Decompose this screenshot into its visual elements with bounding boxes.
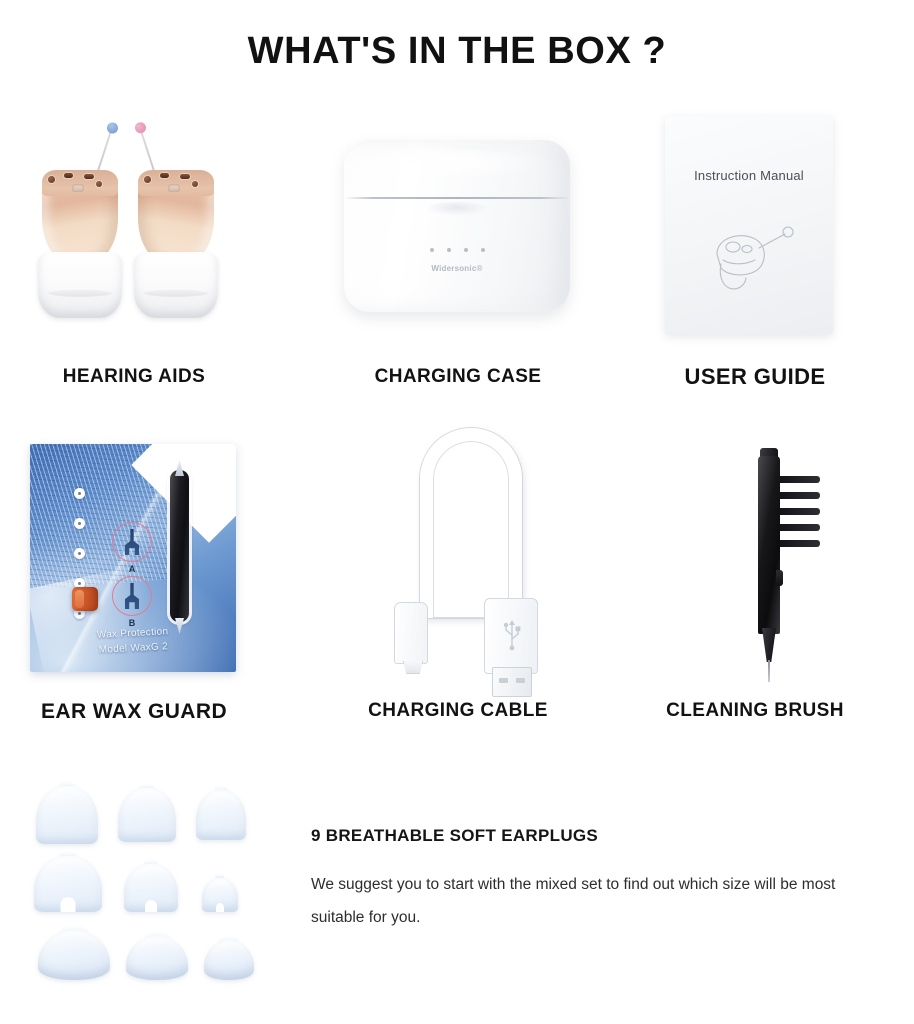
silicone-dome bbox=[38, 252, 122, 318]
hearing-aid-right: SR01 0024D414 bbox=[130, 134, 222, 324]
wax-step-a-label: A bbox=[125, 564, 139, 574]
case-lid-highlight bbox=[370, 150, 542, 180]
caption-user-guide: USER GUIDE bbox=[655, 364, 855, 390]
earplug-mushroom-large bbox=[38, 930, 110, 980]
wax-filter-icon bbox=[74, 518, 85, 529]
brush-bristle-icon bbox=[780, 476, 820, 483]
brush-bristle-icon bbox=[780, 524, 820, 531]
caption-charging-cable: CHARGING CABLE bbox=[358, 700, 558, 722]
product-hearing-aids: SR01 0024D414 SR01 0024D414 bbox=[22, 112, 248, 340]
microphone-port-icon bbox=[96, 181, 102, 187]
product-charging-cable bbox=[372, 420, 572, 678]
caption-charging-case: CHARGING CASE bbox=[358, 366, 558, 388]
caption-ear-wax-guard: EAR WAX GUARD bbox=[34, 700, 234, 724]
brush-bristle-icon bbox=[780, 492, 820, 499]
hearing-aid-faceplate bbox=[42, 170, 118, 196]
earplug-body bbox=[36, 786, 98, 844]
brush-bristle-icon bbox=[780, 540, 820, 547]
case-front-dimple bbox=[426, 202, 488, 216]
led-dot-icon bbox=[481, 248, 485, 252]
caption-cleaning-brush: CLEANING BRUSH bbox=[655, 700, 855, 722]
earplug-body bbox=[204, 940, 254, 980]
whats-in-the-box-infographic: WHAT'S IN THE BOX ? SR01 0024D414 bbox=[0, 0, 914, 1024]
microphone-port-icon bbox=[144, 176, 151, 183]
earplugs-heading: 9 BREATHABLE SOFT EARPLUGS bbox=[311, 826, 871, 846]
wax-guard-cartridge-icon bbox=[72, 587, 98, 611]
earplug-body bbox=[126, 936, 188, 980]
earplug-bell-medium bbox=[118, 788, 176, 842]
product-cleaning-brush bbox=[684, 440, 864, 678]
earplug-vent bbox=[61, 897, 76, 912]
charging-case-shell: Widersonic® bbox=[344, 140, 570, 312]
manual-cover-title: Instruction Manual bbox=[665, 168, 833, 183]
case-lid-seam bbox=[346, 197, 568, 199]
vent-port-icon bbox=[168, 184, 180, 192]
cord-tip-pink-icon bbox=[134, 121, 148, 135]
product-charging-case: Widersonic® bbox=[332, 132, 582, 322]
removal-cord-icon bbox=[140, 132, 155, 174]
vent-port-icon bbox=[72, 184, 84, 192]
earplug-vented-large bbox=[34, 856, 102, 912]
wax-filter-icon bbox=[74, 548, 85, 559]
brush-tip bbox=[762, 628, 776, 662]
caption-hearing-aids: HEARING AIDS bbox=[34, 366, 234, 388]
wax-removal-tool-icon bbox=[170, 470, 189, 622]
earplug-vent bbox=[145, 900, 157, 912]
earplug-mushroom-small bbox=[204, 940, 254, 980]
earplugs-body-text: We suggest you to start with the mixed s… bbox=[311, 868, 845, 934]
microphone-port-icon bbox=[160, 173, 169, 178]
microphone-port-icon bbox=[84, 174, 94, 179]
led-dot-icon bbox=[447, 248, 451, 252]
earplug-bell-small bbox=[196, 790, 246, 840]
cord-tip-blue-icon bbox=[106, 121, 120, 135]
brush-bristle-icon bbox=[780, 508, 820, 515]
page-title: WHAT'S IN THE BOX ? bbox=[0, 30, 914, 73]
case-brand-logo: Widersonic® bbox=[344, 264, 570, 273]
led-dot-icon bbox=[430, 248, 434, 252]
microphone-port-icon bbox=[48, 176, 55, 183]
earplug-vented-small bbox=[202, 878, 238, 912]
microphone-port-icon bbox=[192, 181, 198, 187]
microphone-port-icon bbox=[64, 173, 73, 178]
product-earplugs-set bbox=[24, 782, 286, 990]
earplugs-description-block: 9 BREATHABLE SOFT EARPLUGS We suggest yo… bbox=[311, 826, 871, 934]
battery-led-indicators bbox=[344, 248, 570, 252]
hearing-aid-line-drawing-icon bbox=[699, 220, 803, 292]
microphone-port-icon bbox=[180, 174, 190, 179]
wax-guard-package: A B Wax Protection Model WaxG 2 bbox=[30, 444, 236, 672]
dome-ring bbox=[142, 288, 210, 297]
dome-ring bbox=[46, 288, 114, 297]
usb-trident-icon bbox=[502, 617, 522, 651]
wax-filter-icon bbox=[74, 488, 85, 499]
micro-usb-connector bbox=[394, 602, 428, 664]
removal-cord-icon bbox=[96, 132, 111, 174]
earplug-bell-large bbox=[36, 786, 98, 844]
usb-a-metal-shell bbox=[492, 667, 532, 697]
cable-wire bbox=[420, 428, 522, 618]
brush-handle bbox=[758, 456, 780, 634]
product-user-guide: Instruction Manual bbox=[655, 112, 855, 340]
earplug-vent bbox=[216, 903, 224, 912]
earplug-body bbox=[38, 930, 110, 980]
hearing-aid-faceplate bbox=[138, 170, 214, 196]
earplug-mushroom-medium bbox=[126, 936, 188, 980]
usb-a-connector bbox=[484, 598, 538, 674]
earplug-body bbox=[118, 788, 176, 842]
manual-cover: Instruction Manual bbox=[665, 116, 833, 334]
brush-wire-loop-icon bbox=[768, 660, 770, 682]
earplug-vented-medium bbox=[124, 864, 178, 912]
product-ear-wax-guard: A B Wax Protection Model WaxG 2 bbox=[22, 440, 252, 678]
earplug-body bbox=[196, 790, 246, 840]
led-dot-icon bbox=[464, 248, 468, 252]
hearing-aid-left: SR01 0024D414 bbox=[34, 134, 126, 324]
silicone-dome bbox=[134, 252, 218, 318]
brush-grip-notch bbox=[776, 570, 783, 586]
